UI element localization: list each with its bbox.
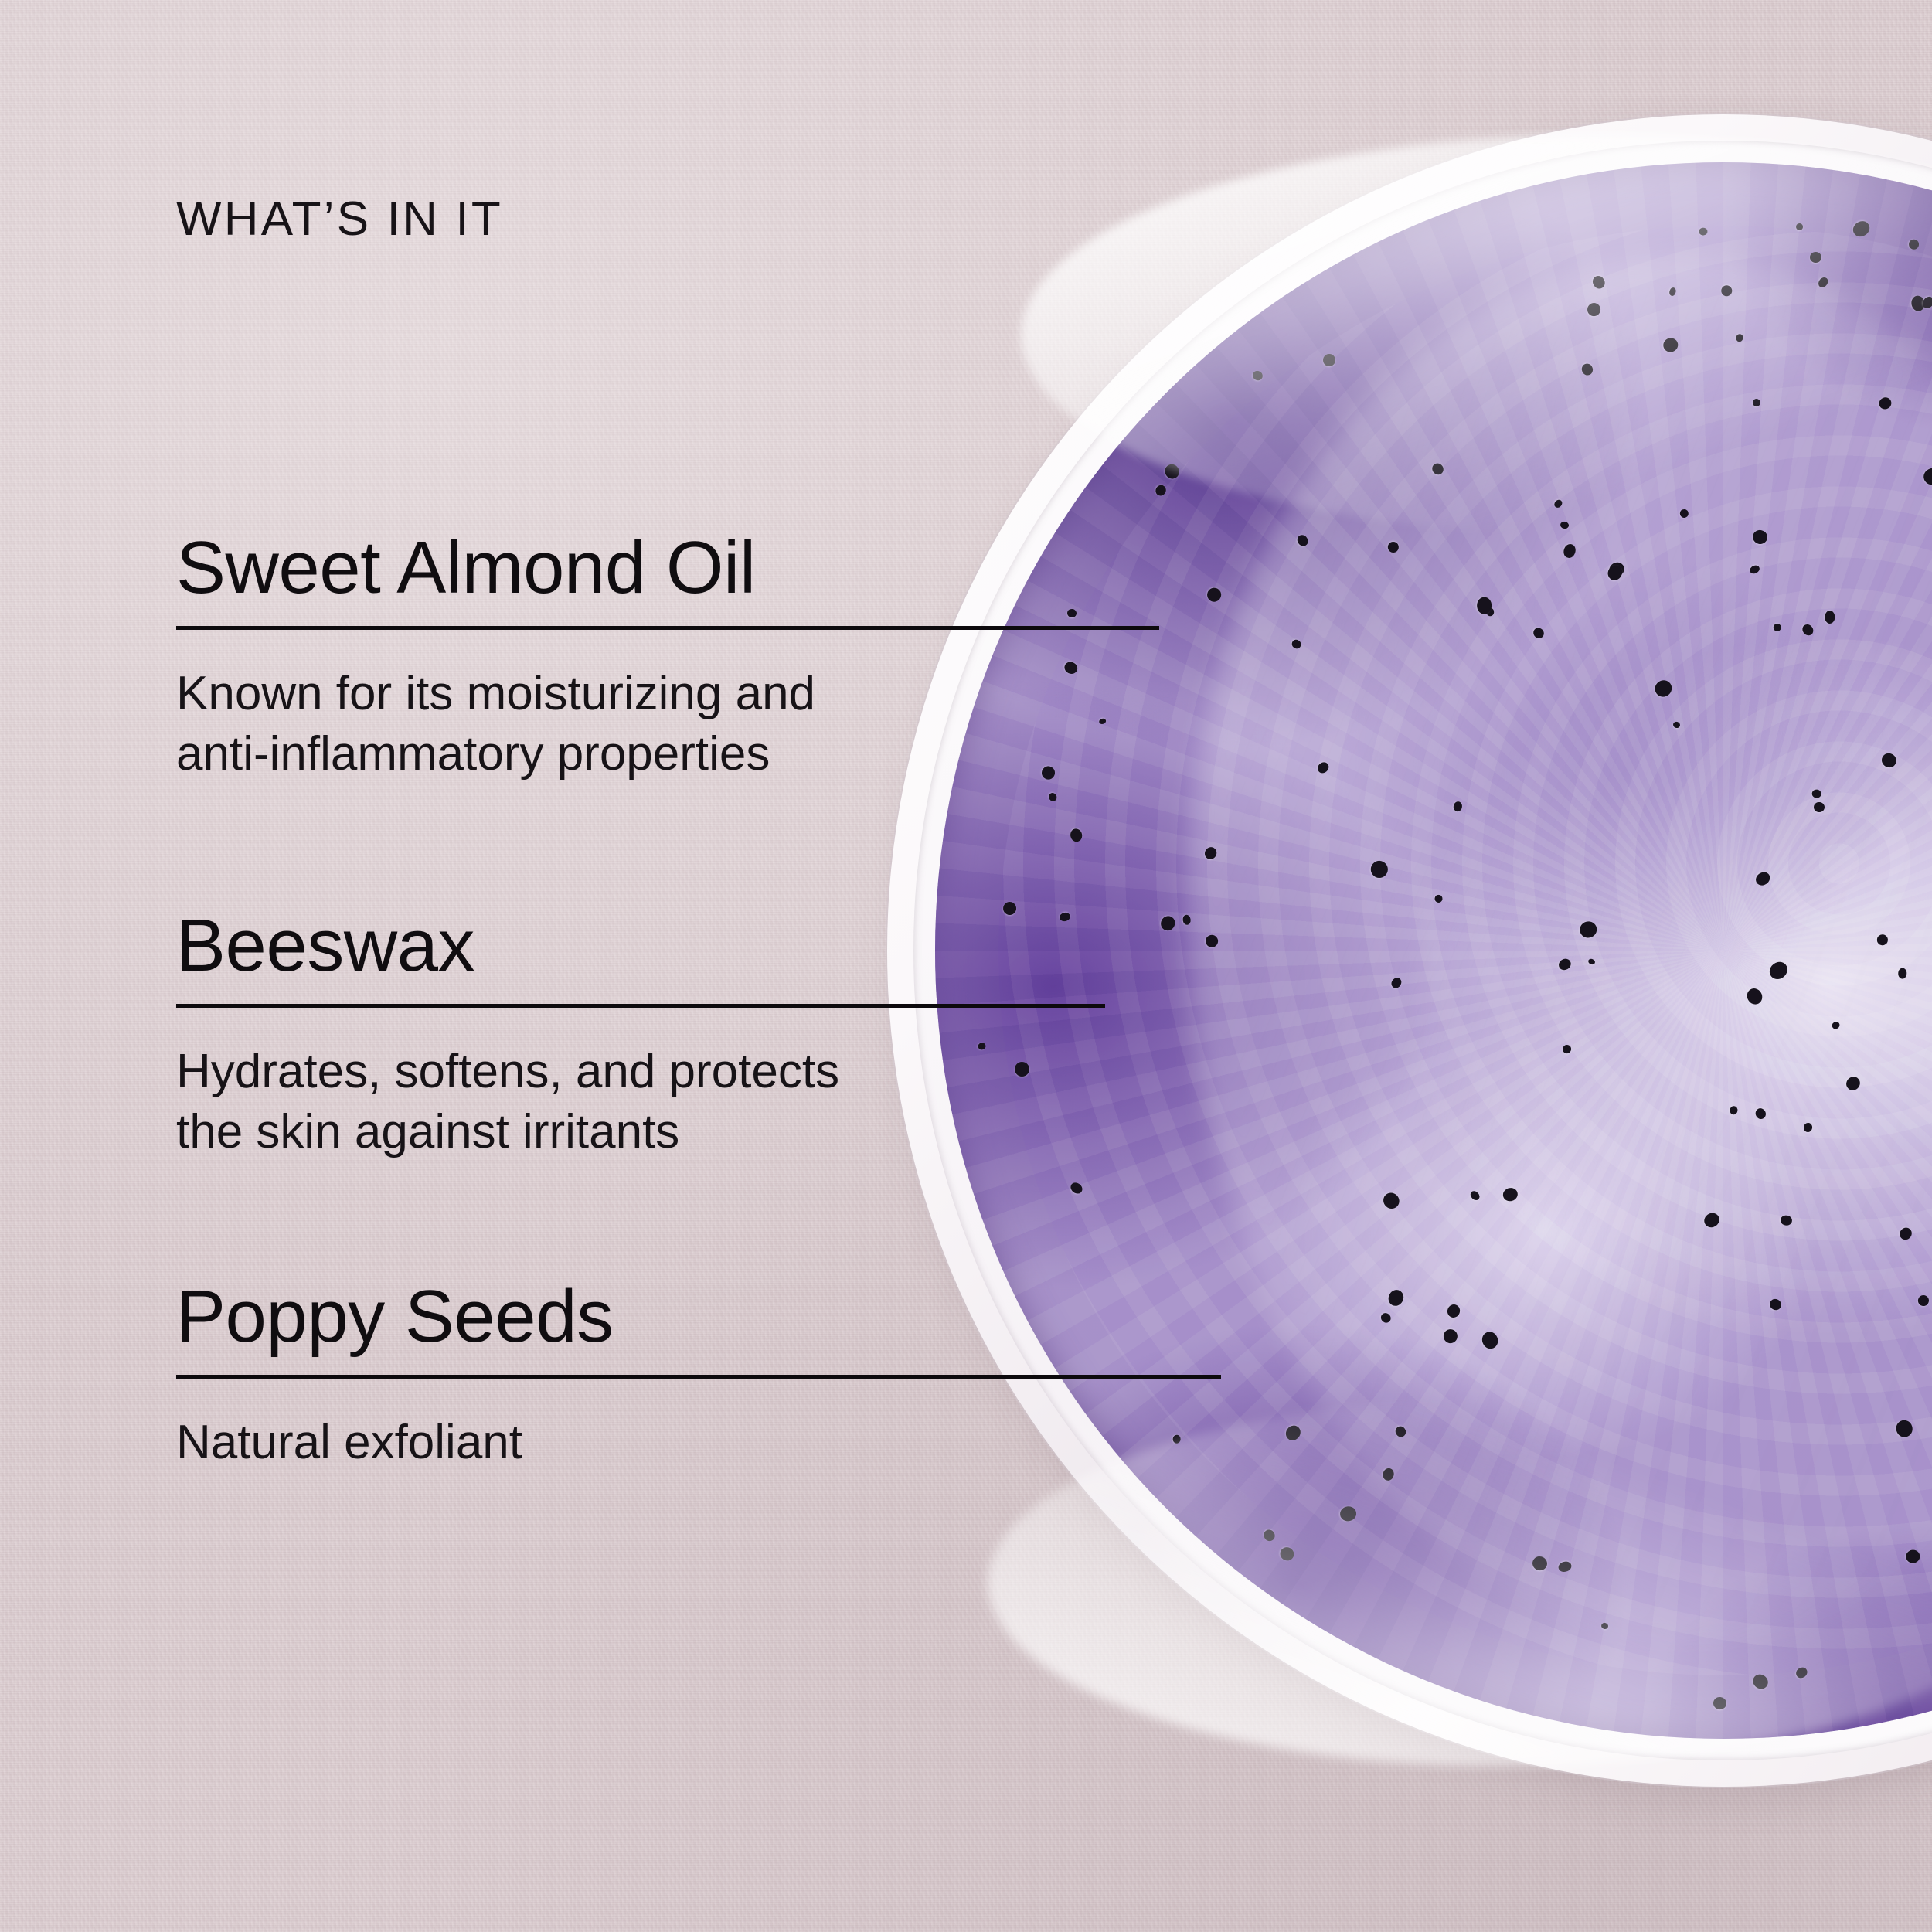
poppy-seed — [1897, 1225, 1914, 1242]
poppy-seed — [1339, 1505, 1358, 1522]
poppy-seed — [1814, 802, 1825, 813]
poppy-seed — [1923, 467, 1932, 485]
poppy-seed — [1749, 564, 1761, 575]
ingredient-divider — [176, 626, 1159, 630]
poppy-seed — [1894, 1418, 1915, 1439]
poppy-seed — [1477, 597, 1492, 614]
poppy-seed — [1905, 1549, 1920, 1563]
poppy-seed — [1796, 223, 1804, 231]
poppy-seed — [1713, 1696, 1727, 1710]
ingredient-description-line: Known for its moisturizing and — [176, 664, 1088, 724]
ingredient-name: Beeswax — [176, 908, 1258, 984]
poppy-seed — [1295, 533, 1311, 549]
poppy-seed — [1580, 362, 1594, 377]
poppy-seed — [1607, 560, 1627, 580]
ingredient-description-line: Natural exfoliant — [176, 1413, 1088, 1473]
poppy-seed — [1917, 1294, 1930, 1308]
poppy-seed — [1261, 1528, 1277, 1544]
poppy-seed — [1750, 1672, 1770, 1692]
poppy-seed — [1910, 294, 1926, 312]
poppy-seed — [1851, 219, 1872, 240]
poppy-seed — [1553, 498, 1563, 509]
ingredient-description: Natural exfoliant — [176, 1413, 1088, 1473]
scrub-highlight-swirl — [1187, 257, 1932, 1644]
poppy-seed — [1579, 920, 1599, 939]
poppy-seed — [1557, 1561, 1572, 1574]
poppy-seed — [1557, 957, 1573, 972]
poppy-seed — [1751, 397, 1762, 408]
ingredient-description-line: Hydrates, softens, and protects — [176, 1042, 1088, 1102]
poppy-seed — [1772, 622, 1783, 633]
poppy-seed — [1380, 1189, 1403, 1212]
poppy-seed — [1735, 333, 1743, 342]
poppy-seed — [1393, 1424, 1407, 1439]
ingredient-description: Known for its moisturizing and anti-infl… — [176, 664, 1088, 784]
poppy-seed — [1323, 354, 1336, 367]
ingredient-description-line: the skin against irritants — [176, 1102, 1088, 1162]
poppy-seed — [1278, 1545, 1296, 1563]
ingredient-description-line: anti-inflammatory properties — [176, 724, 1088, 784]
poppy-seed — [1590, 274, 1607, 291]
ingredient-block: Beeswax Hydrates, softens, and protects … — [176, 908, 1258, 1162]
poppy-seed — [1291, 638, 1303, 651]
poppy-seed — [1479, 1330, 1500, 1352]
poppy-seed — [1810, 251, 1821, 262]
poppy-seed — [1560, 521, 1569, 529]
poppy-seed — [1768, 1297, 1784, 1312]
poppy-seed — [1752, 529, 1770, 546]
poppy-seed — [1389, 976, 1403, 990]
poppy-seed — [1767, 958, 1791, 982]
poppy-seed — [1600, 1622, 1609, 1630]
poppy-seed — [1668, 287, 1677, 297]
poppy-seed — [1468, 1189, 1481, 1202]
ingredient-divider — [176, 1004, 1105, 1008]
poppy-seed — [1367, 857, 1391, 881]
poppy-seed — [1672, 720, 1681, 728]
poppy-seed — [1387, 541, 1400, 553]
poppy-seed — [1502, 1186, 1519, 1202]
text-column: WHAT’S IN IT Sweet Almond Oil Known for … — [176, 0, 1258, 1932]
poppy-seed — [1811, 789, 1821, 798]
poppy-seed — [1379, 1311, 1393, 1325]
poppy-seed — [1316, 760, 1331, 775]
poppy-seed — [1662, 336, 1680, 353]
poppy-seed — [1879, 750, 1899, 769]
poppy-seed — [1719, 284, 1733, 298]
poppy-seed — [1801, 623, 1815, 638]
poppy-seed — [1844, 1074, 1863, 1093]
poppy-seed — [1701, 1210, 1721, 1230]
poppy-seed — [1563, 543, 1577, 560]
poppy-seed — [1909, 239, 1919, 250]
poppy-seed — [1282, 1423, 1303, 1444]
ingredient-name: Sweet Almond Oil — [176, 530, 1258, 606]
poppy-seed — [1443, 1328, 1458, 1344]
poppy-seed — [1430, 461, 1446, 477]
ingredient-block: Poppy Seeds Natural exfoliant — [176, 1279, 1258, 1473]
poppy-seed — [1876, 934, 1888, 946]
poppy-seed — [1531, 626, 1546, 641]
poppy-seed — [1651, 677, 1675, 700]
poppy-seed — [1744, 986, 1765, 1008]
poppy-seed — [1794, 1665, 1809, 1680]
poppy-seed — [1730, 1106, 1738, 1115]
poppy-seed — [1445, 1303, 1461, 1320]
poppy-seed — [1803, 1122, 1813, 1133]
ingredient-block: Sweet Almond Oil Known for its moisturiz… — [176, 530, 1258, 784]
poppy-seed — [1531, 1555, 1549, 1572]
poppy-seed — [1382, 1467, 1395, 1481]
poppy-seed — [1699, 227, 1708, 235]
ingredient-divider — [176, 1375, 1221, 1379]
poppy-seed — [1898, 968, 1906, 979]
poppy-seed — [1781, 1215, 1793, 1226]
poppy-seed — [1587, 958, 1596, 966]
poppy-seed — [1920, 294, 1932, 311]
poppy-seed — [1453, 801, 1463, 811]
poppy-seed — [1877, 396, 1893, 411]
ingredient-poster: WHAT’S IN IT Sweet Almond Oil Known for … — [0, 0, 1932, 1932]
poppy-seed — [1386, 1287, 1406, 1308]
poppy-seed — [1753, 1107, 1767, 1121]
poppy-seed — [1562, 1044, 1572, 1055]
poppy-seed — [1605, 563, 1624, 583]
poppy-seed — [1679, 508, 1690, 519]
poppy-seed — [1825, 611, 1835, 624]
poppy-seed — [1816, 275, 1829, 289]
ingredient-description: Hydrates, softens, and protects the skin… — [176, 1042, 1088, 1162]
poppy-seed — [1753, 869, 1772, 888]
section-eyebrow: WHAT’S IN IT — [176, 192, 503, 247]
poppy-seed — [1485, 607, 1495, 617]
poppy-seed — [1584, 301, 1603, 319]
poppy-seed — [1370, 866, 1380, 876]
ingredient-name: Poppy Seeds — [176, 1279, 1258, 1355]
poppy-seed — [1831, 1020, 1841, 1030]
poppy-seed — [1434, 894, 1443, 903]
